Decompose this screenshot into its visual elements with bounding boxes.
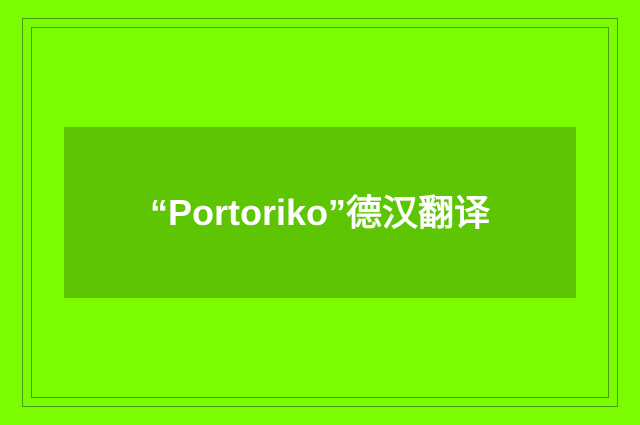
image-canvas: “Portoriko”德汉翻译 — [0, 0, 640, 425]
title-panel: “Portoriko”德汉翻译 — [64, 127, 576, 298]
page-title: “Portoriko”德汉翻译 — [135, 185, 505, 241]
